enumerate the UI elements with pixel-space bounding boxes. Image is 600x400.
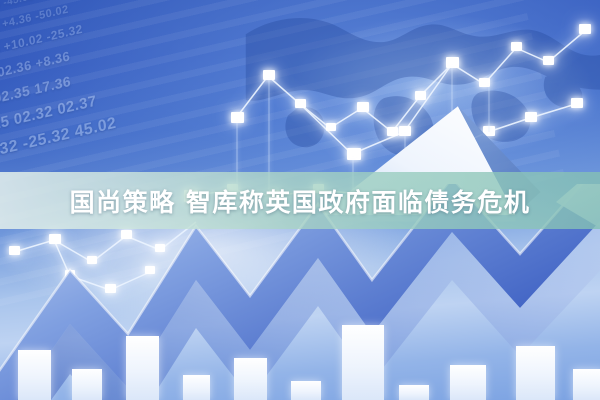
- bar-column: [18, 350, 51, 400]
- bar-column: [183, 375, 210, 400]
- bar-column: [291, 381, 321, 400]
- bar-column: [72, 369, 102, 400]
- banner-image: -02.36 -11.25 +45.02 +8.36 -50.35 -11.25…: [0, 0, 600, 400]
- bar-column: [234, 358, 267, 400]
- bar-column: [573, 369, 600, 400]
- bar-column: [450, 365, 486, 400]
- bar-column: [126, 336, 159, 400]
- bar-column: [516, 346, 555, 400]
- bar-chart-columns: [0, 296, 600, 400]
- bar-column: [399, 385, 429, 400]
- page-title: 国尚策略 智库称英国政府面临债务危机: [0, 183, 600, 219]
- bar-column: [342, 325, 384, 400]
- title-band: 国尚策略 智库称英国政府面临债务危机: [0, 172, 600, 229]
